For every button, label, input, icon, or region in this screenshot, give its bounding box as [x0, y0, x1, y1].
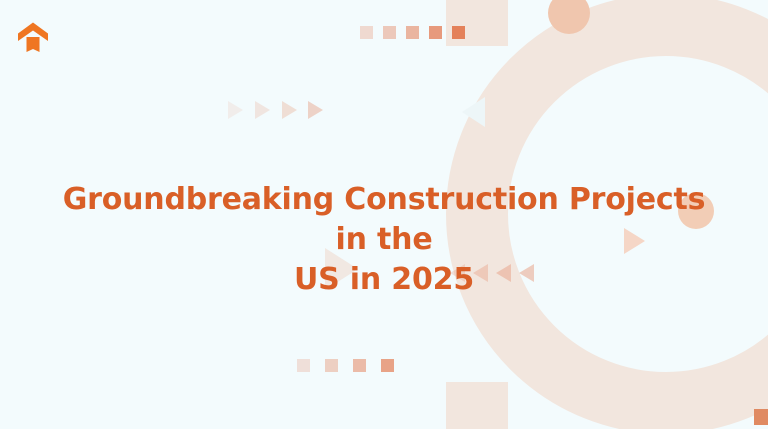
- decor-square: [297, 359, 310, 372]
- decorative-circle-top: [548, 0, 590, 34]
- brand-logo[interactable]: [14, 17, 52, 55]
- arc-cap-top: [446, 0, 508, 46]
- page-title: Groundbreaking Construction Projects in …: [0, 180, 768, 300]
- decor-triangle-right: [282, 101, 297, 119]
- slide-canvas: Groundbreaking Construction Projects in …: [0, 0, 768, 429]
- decor-triangle-right: [308, 101, 323, 119]
- corner-accent-square: [754, 409, 768, 425]
- decor-triangle-right: [228, 101, 243, 119]
- decor-square: [381, 359, 394, 372]
- decor-square: [383, 26, 396, 39]
- decor-square: [360, 26, 373, 39]
- decor-square: [325, 359, 338, 372]
- decor-square: [406, 26, 419, 39]
- faint-left-triangle-icon: [462, 97, 485, 127]
- arc-cap-bottom: [446, 382, 508, 429]
- decor-square: [452, 26, 465, 39]
- decor-triangle-right: [255, 101, 270, 119]
- decor-square: [353, 359, 366, 372]
- decor-square: [429, 26, 442, 39]
